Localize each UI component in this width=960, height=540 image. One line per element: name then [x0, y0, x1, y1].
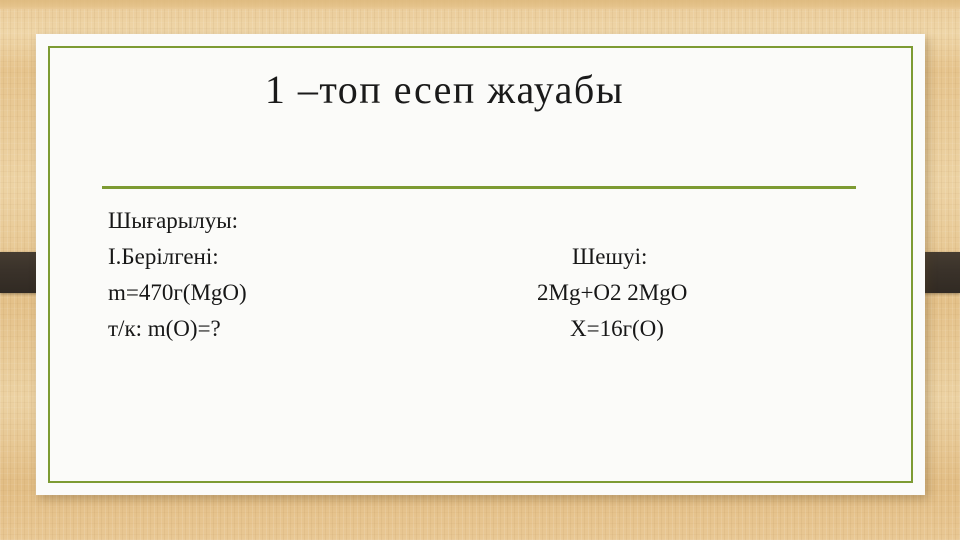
background-top-strip — [0, 0, 960, 9]
body-line: I.Берілгені: Шешуі: — [0, 242, 960, 278]
title-divider — [102, 186, 856, 189]
slide-body: Шығарылуы: I.Берілгені: Шешуі: m=470г(Mg… — [0, 206, 960, 366]
given-label: I.Берілгені: — [108, 242, 219, 272]
solution-heading: Шығарылуы: — [108, 206, 238, 236]
given-mass-value: m=470г(MgO) — [108, 278, 247, 308]
body-line: m=470г(MgO) 2Mg+O2 2MgO — [0, 278, 960, 314]
body-line: т/к: m(O)=? X=16г(O) — [0, 314, 960, 350]
answer-value: X=16г(O) — [570, 314, 664, 344]
slide-stage: 1 –топ есеп жауабы Шығарылуы: I.Берілген… — [0, 0, 960, 540]
solution-label: Шешуі: — [572, 242, 647, 272]
body-line: Шығарылуы: — [0, 206, 960, 242]
find-question: т/к: m(O)=? — [108, 314, 221, 344]
chemical-equation: 2Mg+O2 2MgO — [537, 278, 687, 308]
slide-title: 1 –топ есеп жауабы — [66, 66, 823, 114]
